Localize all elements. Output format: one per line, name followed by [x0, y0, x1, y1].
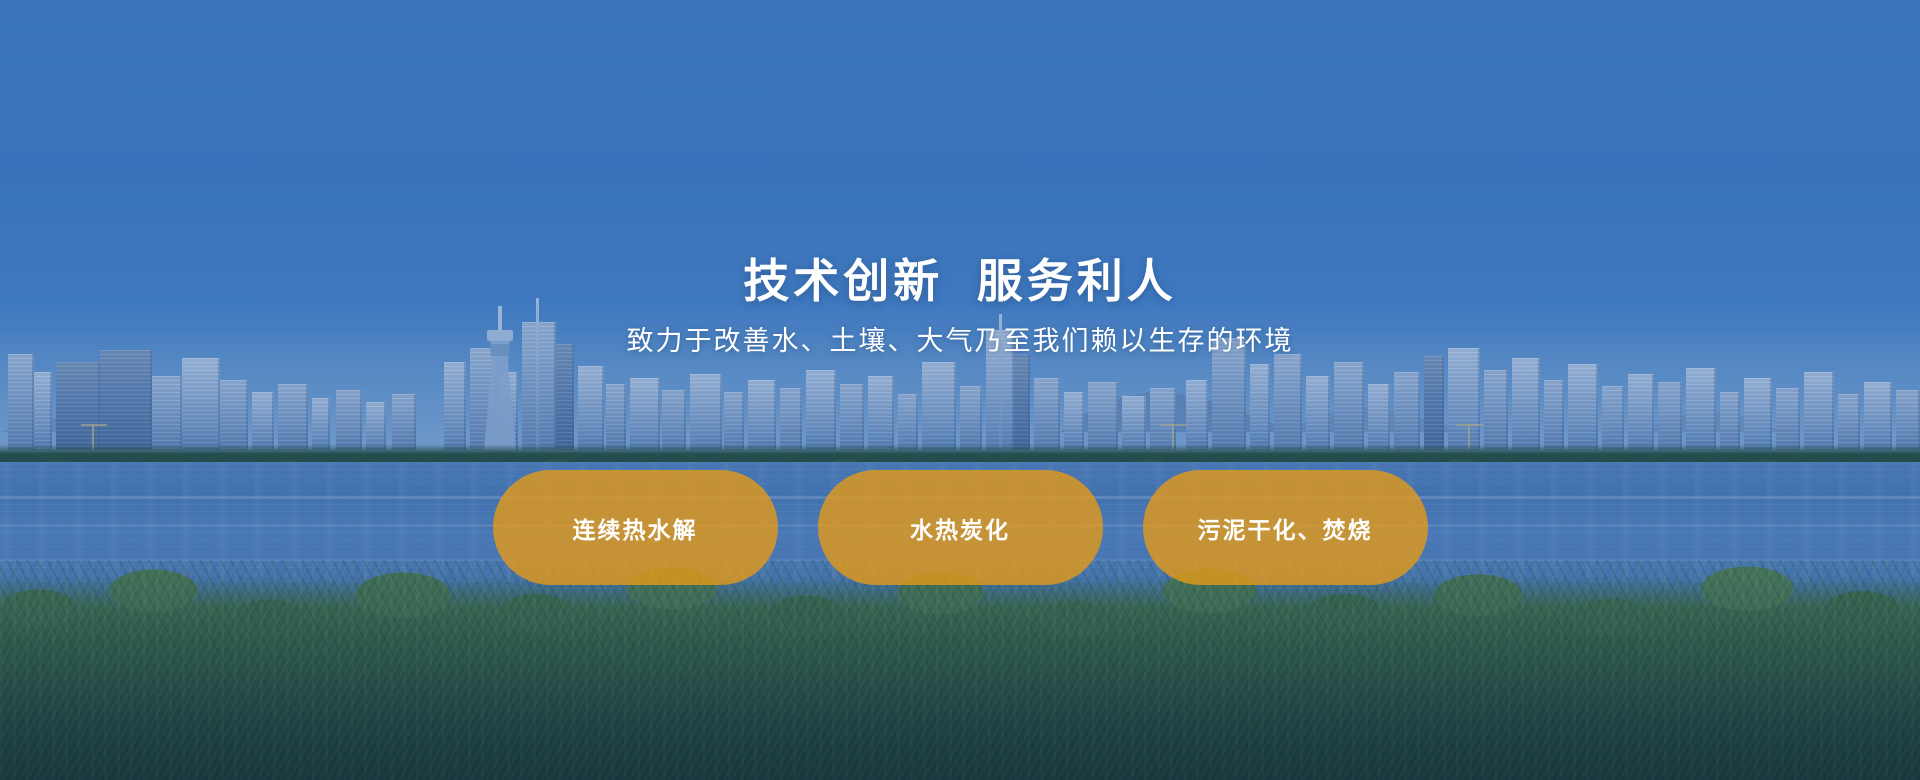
- pill-sludge-drying-incineration[interactable]: 污泥干化、焚烧: [1143, 470, 1428, 585]
- hero-headline: 技术创新 服务利人: [743, 258, 1177, 304]
- pill-hydrothermal-carbonization[interactable]: 水热炭化: [818, 470, 1103, 585]
- hero-subtitle: 致力于改善水、土壤、大气乃至我们赖以生存的环境: [627, 328, 1294, 355]
- hero-cta-row: 连续热水解 水热炭化 污泥干化、焚烧: [0, 470, 1920, 585]
- hero-content: 技术创新 服务利人 致力于改善水、土壤、大气乃至我们赖以生存的环境: [0, 0, 1920, 780]
- pill-continuous-thermal-hydrolysis[interactable]: 连续热水解: [493, 470, 778, 585]
- hero-banner: 技术创新 服务利人 致力于改善水、土壤、大气乃至我们赖以生存的环境 连续热水解 …: [0, 0, 1920, 780]
